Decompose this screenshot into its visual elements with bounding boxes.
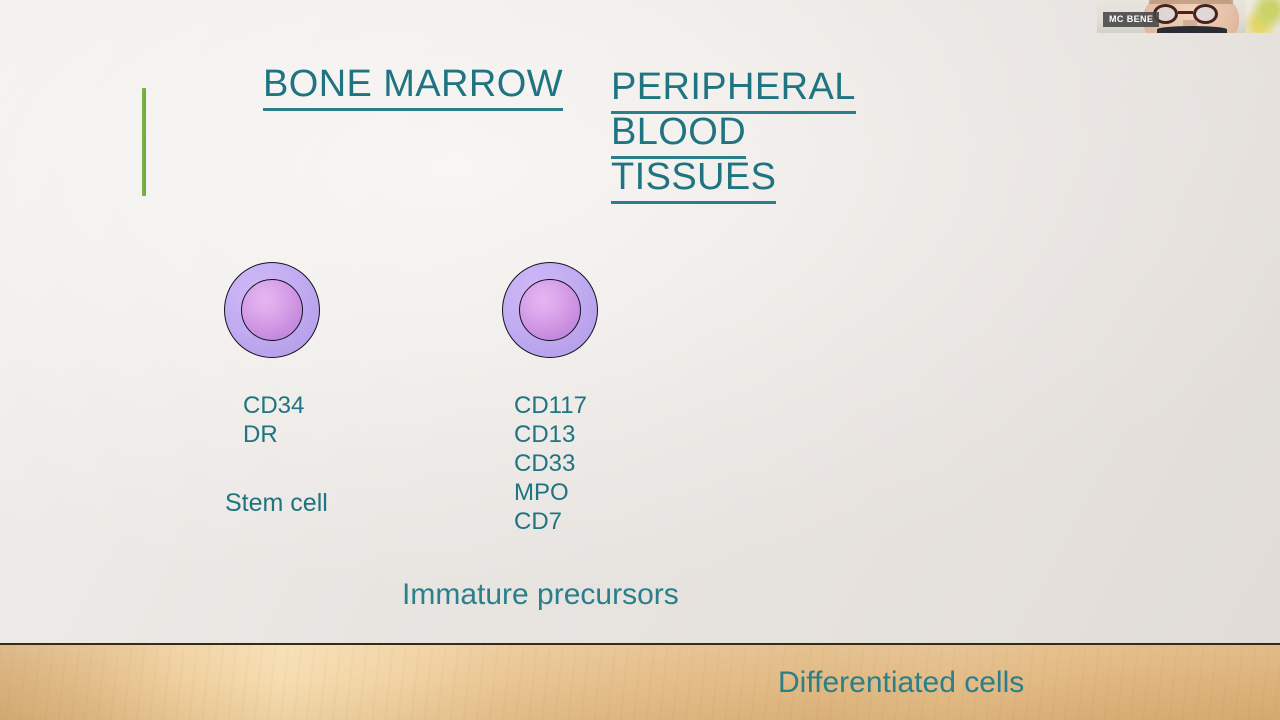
precursor-cell-marker-list: CD117 CD13 CD33 MPO CD7: [514, 391, 587, 536]
marker-item: MPO: [514, 478, 587, 507]
webcam-participant-name: MC BENE: [1103, 12, 1159, 27]
heading-tissues-text: TISSUES: [611, 155, 776, 204]
heading-bone-marrow-text: BONE MARROW: [263, 62, 563, 111]
differentiated-cells-band: [0, 643, 1280, 720]
differentiated-cells-caption: Differentiated cells: [778, 665, 1024, 701]
webcam-thumbnail[interactable]: MC BENE: [1097, 0, 1280, 33]
green-accent-bar: [142, 88, 146, 196]
stem-cell-marker-list: CD34 DR: [243, 391, 304, 449]
marker-item: CD7: [514, 507, 587, 536]
precursor-cell-nucleus: [519, 279, 581, 341]
slide-root: BONE MARROW PERIPHERAL BLOOD TISSUES CD3…: [0, 0, 1280, 720]
heading-line-tissues: TISSUES: [611, 155, 856, 200]
heading-blood-text: BLOOD: [611, 110, 746, 159]
glasses-bridge: [1178, 11, 1193, 14]
marker-item: CD117: [514, 391, 587, 420]
precursor-cell-diagram: [502, 262, 598, 358]
heading-line-blood: BLOOD: [611, 110, 856, 155]
marker-item: CD33: [514, 449, 587, 478]
stem-cell-nucleus: [241, 279, 303, 341]
background-artwork: [1246, 0, 1280, 33]
stem-cell-label: Stem cell: [225, 488, 328, 518]
stem-cell-diagram: [224, 262, 320, 358]
marker-item: DR: [243, 420, 304, 449]
marker-item: CD34: [243, 391, 304, 420]
marker-item: CD13: [514, 420, 587, 449]
presenter-shirt: [1157, 26, 1227, 33]
immature-precursors-caption: Immature precursors: [402, 577, 679, 613]
heading-line-peripheral: PERIPHERAL: [611, 65, 856, 110]
wood-grain-texture: [0, 645, 1280, 720]
heading-bone-marrow: BONE MARROW: [263, 62, 563, 111]
heading-peripheral-text: PERIPHERAL: [611, 65, 856, 114]
heading-peripheral-blood-tissues: PERIPHERAL BLOOD TISSUES: [611, 65, 856, 200]
